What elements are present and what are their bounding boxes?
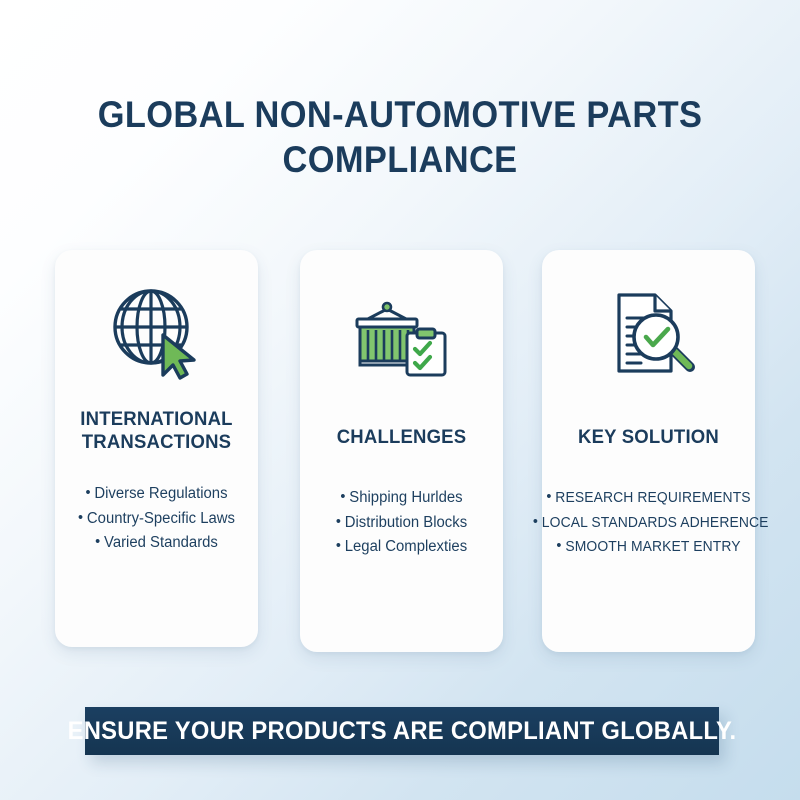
card-heading: INTERNATIONAL TRANSACTIONS [52, 408, 260, 454]
list-item-label: RESEARCH REQUIREMENTS [555, 490, 750, 506]
list-item: •Country-Specific Laws [46, 507, 268, 532]
list-item: •Distribution Blocks [291, 511, 513, 536]
list-item: •SMOOTH MARKET ENTRY [533, 535, 764, 560]
page-title-line-2: COMPLIANCE [28, 137, 772, 182]
card-bullet-list: •RESEARCH REQUIREMENTS •LOCAL STANDARDS … [528, 486, 769, 560]
shipping-container-clipboard-icon [300, 280, 503, 385]
list-item-label: Shipping Hurldes [349, 489, 462, 506]
page-title-line-1: GLOBAL NON-AUTOMOTIVE PARTS [28, 92, 772, 137]
card-heading-line-1: INTERNATIONAL [80, 408, 232, 430]
bullet-icon: • [556, 538, 561, 553]
cards-row: INTERNATIONAL TRANSACTIONS •Diverse Regu… [55, 250, 755, 655]
card-key-solution: KEY SOLUTION •RESEARCH REQUIREMENTS •LOC… [542, 250, 755, 652]
list-item-label: Distribution Blocks [345, 514, 467, 531]
list-item: •Varied Standards [46, 531, 268, 556]
card-heading-line-2: TRANSACTIONS [82, 431, 231, 453]
bullet-icon: • [533, 514, 538, 529]
list-item-label: Diverse Regulations [94, 485, 227, 502]
card-heading-line-1: CHALLENGES [337, 426, 467, 448]
list-item: •Shipping Hurldes [291, 486, 513, 511]
globe-cursor-icon [55, 280, 258, 385]
list-item-label: SMOOTH MARKET ENTRY [565, 539, 740, 555]
card-heading: CHALLENGES [297, 426, 505, 449]
list-item: •Diverse Regulations [46, 482, 268, 507]
list-item: •Legal Complexties [291, 535, 513, 560]
card-international-transactions: INTERNATIONAL TRANSACTIONS •Diverse Regu… [55, 250, 258, 647]
list-item: •LOCAL STANDARDS ADHERENCE [533, 511, 764, 536]
page-title: GLOBAL NON-AUTOMOTIVE PARTS COMPLIANCE [0, 92, 800, 182]
bullet-icon: • [340, 489, 345, 504]
bullet-icon: • [336, 538, 341, 553]
document-magnifier-check-icon [542, 280, 755, 385]
infographic-poster: GLOBAL NON-AUTOMOTIVE PARTS COMPLIANCE I [0, 0, 800, 800]
bullet-icon: • [95, 534, 100, 549]
card-bullet-list: •Diverse Regulations •Country-Specific L… [41, 482, 272, 556]
card-heading: KEY SOLUTION [540, 426, 758, 449]
bullet-icon: • [546, 489, 551, 504]
list-item-label: Country-Specific Laws [87, 510, 235, 527]
bullet-icon: • [78, 510, 83, 525]
list-item-label: LOCAL STANDARDS ADHERENCE [542, 515, 769, 531]
list-item: •RESEARCH REQUIREMENTS [533, 486, 764, 511]
card-heading-line-1: KEY SOLUTION [578, 426, 719, 448]
call-to-action-banner: ENSURE YOUR PRODUCTS ARE COMPLIANT GLOBA… [85, 707, 719, 755]
list-item-label: Legal Complexties [345, 538, 467, 555]
call-to-action-text: ENSURE YOUR PRODUCTS ARE COMPLIANT GLOBA… [68, 717, 737, 746]
bullet-icon: • [336, 514, 341, 529]
card-bullet-list: •Shipping Hurldes •Distribution Blocks •… [286, 486, 517, 560]
list-item-label: Varied Standards [104, 534, 218, 551]
bullet-icon: • [85, 485, 90, 500]
card-challenges: CHALLENGES •Shipping Hurldes •Distributi… [300, 250, 503, 652]
